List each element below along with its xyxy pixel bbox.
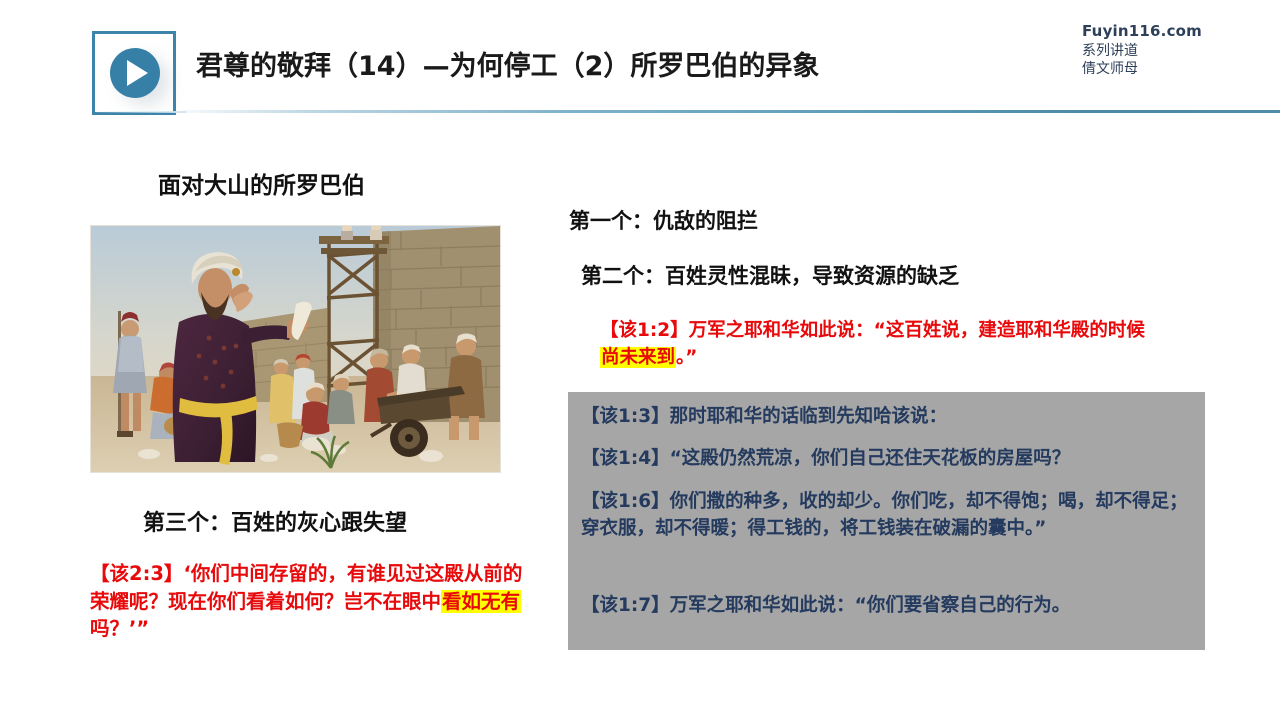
header-divider	[182, 110, 1280, 113]
right-scripture-part1: 万军之耶和华如此说：“这百姓说，建造耶和华殿的时候	[689, 320, 1145, 341]
header-divider-soft	[96, 111, 186, 113]
left-scripture-reference: 【该2:3】	[90, 562, 183, 585]
left-scripture-highlight: 看如无有	[441, 590, 521, 613]
scripture-line-3: 【该1:6】你们撒的种多，收的却少。你们吃，却不得饱；喝，却不得足；穿衣服，却不…	[581, 489, 1195, 543]
scripture-panel: 【该1:3】那时耶和华的话临到先知哈该说： 【该1:4】“这殿仍然荒凉，你们自己…	[568, 392, 1205, 650]
scripture-line-4: 【该1:7】万军之耶和华如此说：“你们要省察自己的行为。	[581, 593, 1195, 620]
point-one-label: 第一个：仇敌的阻拦	[569, 205, 758, 235]
zerubbabel-temple-illustration	[91, 226, 500, 472]
right-scripture-reference: 【该1:2】	[600, 320, 689, 341]
slide-header: 君尊的敬拜（14）—为何停工（2）所罗巴伯的异象 Fuyin116.com 系列…	[0, 0, 1280, 120]
left-section-subheading: 第三个：百姓的灰心跟失望	[143, 505, 407, 537]
right-scripture-quote: 【该1:2】万军之耶和华如此说：“这百姓说，建造耶和华殿的时候尚未来到。”	[600, 318, 1160, 372]
brand-block: Fuyin116.com 系列讲道 倩文师母	[1082, 22, 1202, 79]
page-title: 君尊的敬拜（14）—为何停工（2）所罗巴伯的异象	[196, 44, 819, 83]
scripture-line-1: 【该1:3】那时耶和华的话临到先知哈该说：	[581, 404, 1195, 431]
brand-speaker: 倩文师母	[1082, 60, 1202, 78]
left-scripture-quote: 【该2:3】‘你们中间存留的，有谁见过这殿从前的荣耀呢？现在你们看着如何？岂不在…	[90, 560, 540, 643]
brand-series: 系列讲道	[1082, 42, 1202, 60]
right-scripture-part2: 。”	[676, 347, 697, 368]
left-section-heading: 面对大山的所罗巴伯	[158, 166, 365, 200]
point-two-label: 第二个：百姓灵性混昧，导致资源的缺乏	[581, 260, 959, 290]
brand-site: Fuyin116.com	[1082, 22, 1202, 42]
right-scripture-highlight: 尚未来到	[600, 347, 676, 368]
scripture-line-2: 【该1:4】“这殿仍然荒凉，你们自己还住天花板的房屋吗？	[581, 446, 1195, 473]
left-scripture-part2: 吗？’”	[90, 617, 149, 640]
play-triangle-icon	[127, 60, 148, 86]
